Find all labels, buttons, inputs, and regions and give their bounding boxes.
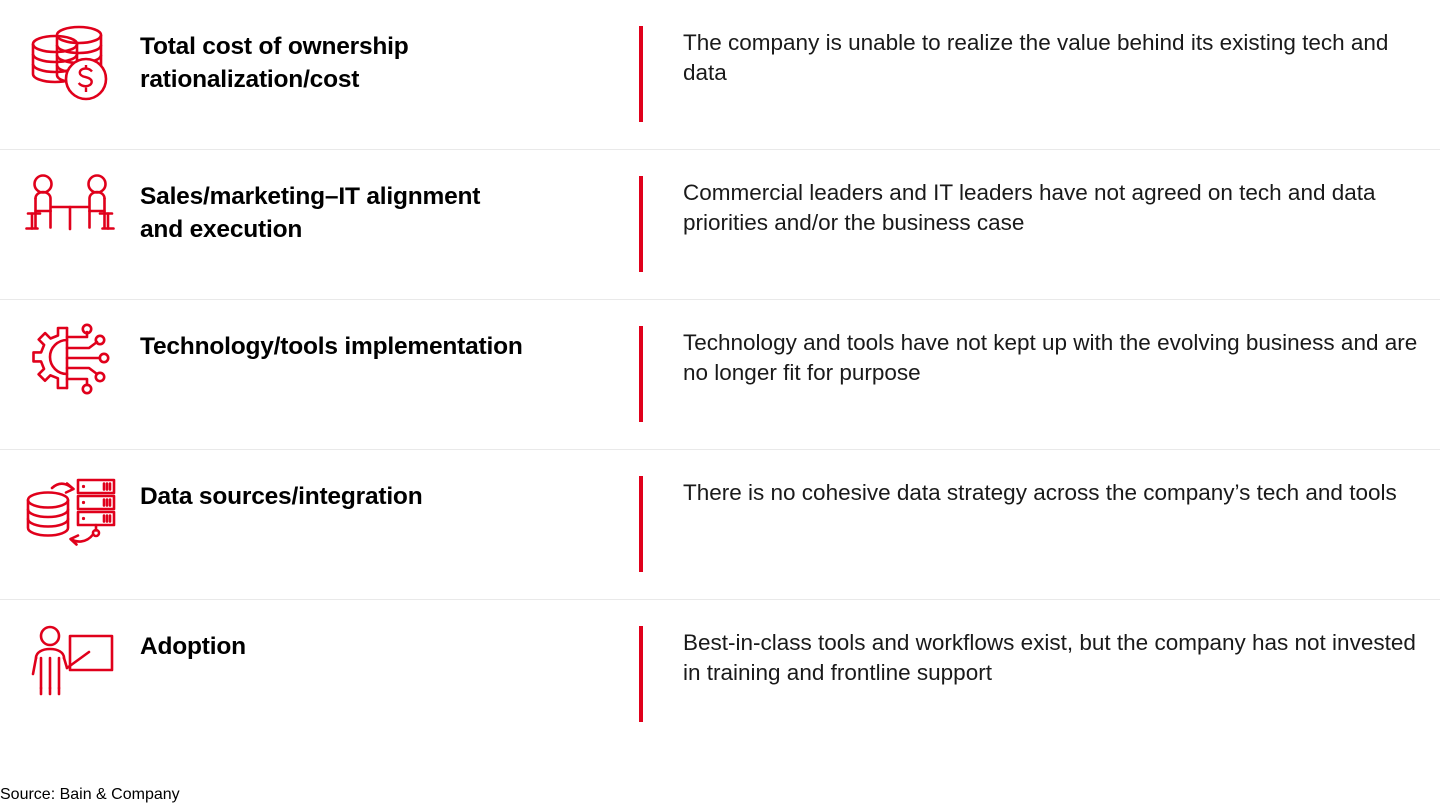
- row-title: Data sources/integration: [140, 480, 639, 513]
- accent-bar: [639, 476, 643, 572]
- table-row: Data sources/integration There is no coh…: [0, 450, 1440, 600]
- row-title-cell: Data sources/integration: [140, 450, 639, 513]
- source-note: Source: Bain & Company: [0, 785, 180, 805]
- row-accent-bar-cell: [639, 600, 683, 722]
- accent-bar: [639, 176, 643, 272]
- presenter-whiteboard-icon: [23, 622, 117, 700]
- row-description: Best-in-class tools and workflows exist,…: [683, 628, 1420, 688]
- row-title: Sales/marketing–IT alignment and executi…: [140, 180, 639, 246]
- database-server-sync-icon: [22, 472, 118, 550]
- table-row: Sales/marketing–IT alignment and executi…: [0, 150, 1440, 300]
- row-description-cell: Best-in-class tools and workflows exist,…: [683, 600, 1440, 688]
- row-title-cell: Sales/marketing–IT alignment and executi…: [140, 150, 639, 246]
- row-accent-bar-cell: [639, 0, 683, 122]
- row-title: Technology/tools implementation: [140, 330, 639, 363]
- row-description: Technology and tools have not kept up wi…: [683, 328, 1420, 388]
- row-title-cell: Adoption: [140, 600, 639, 663]
- row-icon-cell: [0, 150, 140, 300]
- row-icon-cell: [0, 300, 140, 450]
- row-description-cell: There is no cohesive data strategy acros…: [683, 450, 1440, 508]
- row-accent-bar-cell: [639, 450, 683, 572]
- gear-circuit-icon: [23, 322, 117, 402]
- two-people-at-table-icon: [22, 172, 118, 250]
- row-description: The company is unable to realize the val…: [683, 28, 1420, 88]
- row-description: There is no cohesive data strategy acros…: [683, 478, 1420, 508]
- challenge-rows-list: Total cost of ownership rationalization/…: [0, 0, 1440, 750]
- row-title-cell: Technology/tools implementation: [140, 300, 639, 363]
- row-title-cell: Total cost of ownership rationalization/…: [140, 0, 639, 96]
- accent-bar: [639, 326, 643, 422]
- row-description: Commercial leaders and IT leaders have n…: [683, 178, 1420, 238]
- table-row: Adoption Best-in-class tools and workflo…: [0, 600, 1440, 750]
- row-icon-cell: [0, 0, 140, 150]
- row-title: Adoption: [140, 630, 639, 663]
- table-row: Total cost of ownership rationalization/…: [0, 0, 1440, 150]
- slide-canvas: Total cost of ownership rationalization/…: [0, 0, 1440, 810]
- accent-bar: [639, 626, 643, 722]
- accent-bar: [639, 26, 643, 122]
- row-description-cell: The company is unable to realize the val…: [683, 0, 1440, 88]
- row-icon-cell: [0, 450, 140, 600]
- row-accent-bar-cell: [639, 150, 683, 272]
- row-icon-cell: [0, 600, 140, 750]
- row-description-cell: Technology and tools have not kept up wi…: [683, 300, 1440, 388]
- stacked-coins-dollar-icon: [24, 22, 116, 104]
- row-accent-bar-cell: [639, 300, 683, 422]
- row-title: Total cost of ownership rationalization/…: [140, 30, 639, 96]
- table-row: Technology/tools implementation Technolo…: [0, 300, 1440, 450]
- row-description-cell: Commercial leaders and IT leaders have n…: [683, 150, 1440, 238]
